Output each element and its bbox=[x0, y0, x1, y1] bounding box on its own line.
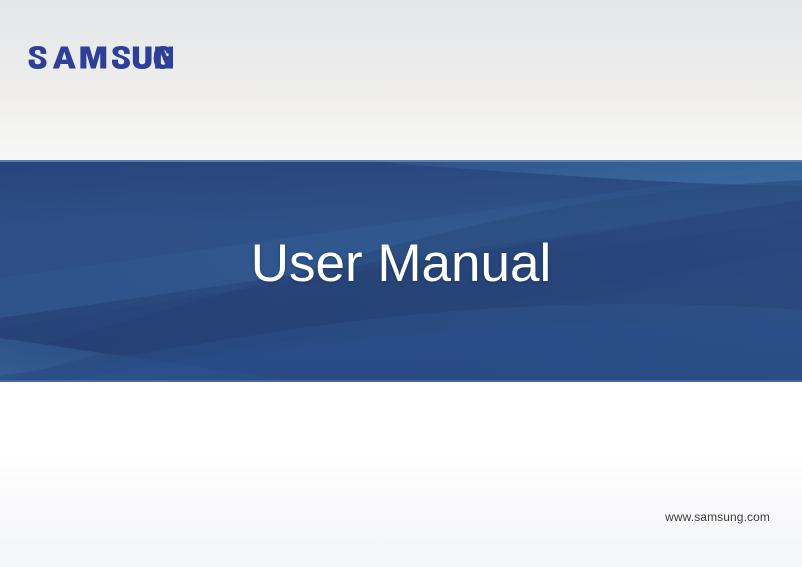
user-manual-cover-page: User Manual www.samsung.com bbox=[0, 0, 802, 567]
page-footer: www.samsung.com bbox=[0, 382, 802, 567]
page-header bbox=[0, 0, 802, 160]
samsung-website-url[interactable]: www.samsung.com bbox=[665, 510, 770, 524]
banner-top-edge-line bbox=[0, 160, 802, 162]
samsung-logo-icon bbox=[28, 46, 173, 69]
page-title: User Manual bbox=[0, 234, 802, 294]
cover-banner: User Manual bbox=[0, 160, 802, 382]
